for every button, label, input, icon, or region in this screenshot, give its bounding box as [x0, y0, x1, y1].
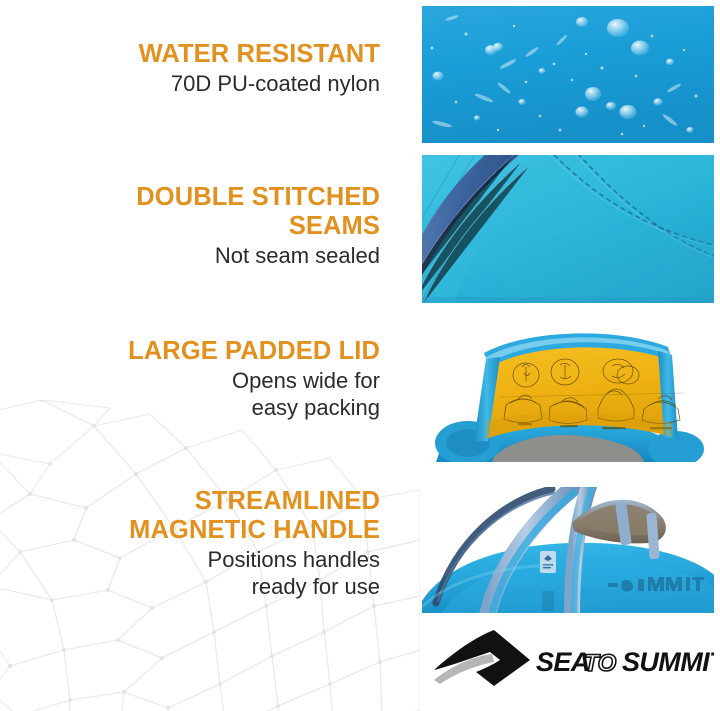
- feature-title-line: WATER RESISTANT: [10, 40, 380, 69]
- feature-title-line: LARGE PADDED LID: [10, 337, 380, 366]
- feature-subtitle-line: easy packing: [10, 394, 380, 421]
- feature-subtitle-line: 70D PU-coated nylon: [10, 70, 380, 97]
- infographic-page: WATER RESISTANT 70D PU-coated nylon DOUB…: [0, 0, 720, 711]
- photo-double-stitching: [422, 155, 714, 303]
- feature-photo-column: [422, 0, 714, 711]
- feature-subtitle: Opens wide for easy packing: [10, 367, 380, 421]
- photo-water-beading: [422, 6, 714, 143]
- feature-subtitle: Not seam sealed: [10, 242, 380, 269]
- feature-subtitle-line: Not seam sealed: [10, 242, 380, 269]
- photo-magnetic-handle: [422, 487, 714, 613]
- brand-logo: SEA TO SUMMIT: [432, 628, 714, 690]
- feature-title-line: MAGNETIC HANDLE: [10, 516, 380, 545]
- logo-word-sea: SEA: [536, 647, 590, 677]
- logo-word-summit: SUMMIT: [622, 647, 714, 677]
- feature-subtitle-line: Positions handles: [10, 546, 380, 573]
- feature-subtitle: 70D PU-coated nylon: [10, 70, 380, 97]
- logo-word-to: TO: [584, 650, 617, 677]
- feature-title-line: DOUBLE STITCHED: [10, 183, 380, 212]
- feature-subtitle: Positions handles ready for use: [10, 546, 380, 600]
- feature-item-streamlined-magnetic-handle: STREAMLINED MAGNETIC HANDLE Positions ha…: [10, 487, 380, 600]
- photo-open-lid: [422, 317, 714, 462]
- feature-title: WATER RESISTANT: [10, 40, 380, 69]
- feature-subtitle-line: ready for use: [10, 573, 380, 600]
- feature-title: STREAMLINED MAGNETIC HANDLE: [10, 487, 380, 545]
- feature-item-large-padded-lid: LARGE PADDED LID Opens wide for easy pac…: [10, 337, 380, 421]
- feature-list: WATER RESISTANT 70D PU-coated nylon DOUB…: [0, 0, 392, 711]
- feature-title-line: SEAMS: [10, 212, 380, 241]
- feature-title: LARGE PADDED LID: [10, 337, 380, 366]
- feature-title-line: STREAMLINED: [10, 487, 380, 516]
- feature-item-double-stitched-seams: DOUBLE STITCHED SEAMS Not seam sealed: [10, 183, 380, 269]
- feature-subtitle-line: Opens wide for: [10, 367, 380, 394]
- feature-item-water-resistant: WATER RESISTANT 70D PU-coated nylon: [10, 40, 380, 97]
- feature-title: DOUBLE STITCHED SEAMS: [10, 183, 380, 241]
